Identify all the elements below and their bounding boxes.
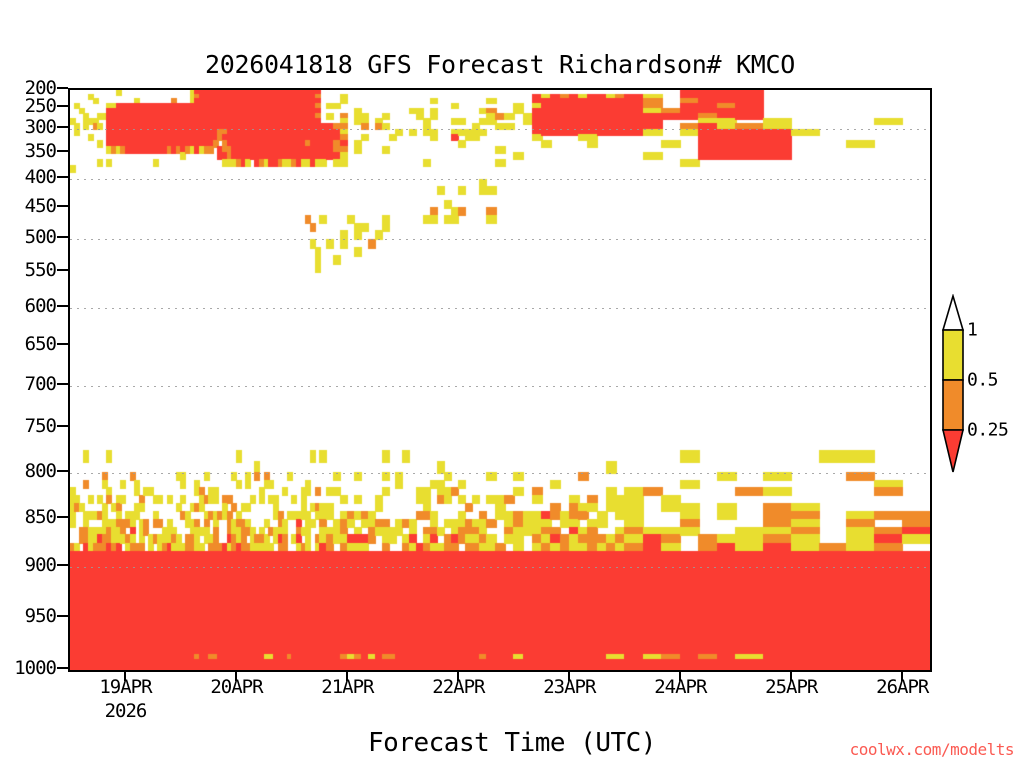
x-tick-mark-20apr bbox=[235, 672, 237, 681]
x-tick-mark-25apr bbox=[790, 672, 792, 681]
colorbar-label-0-25: 0.25 bbox=[967, 420, 1008, 441]
x-tick-mark-19apr bbox=[124, 672, 126, 681]
x-axis-year-label: 2026 bbox=[105, 700, 147, 722]
watermark: coolwx.com/modelts bbox=[850, 740, 1014, 759]
x-tick-mark-22apr bbox=[457, 672, 459, 681]
colorbar-label-0-5: 0.5 bbox=[967, 370, 998, 391]
colorbar-band-yellow bbox=[943, 330, 963, 380]
colorbar-label-1: 1 bbox=[967, 320, 977, 341]
colorbar-band-orange bbox=[943, 380, 963, 430]
colorbar-swatches bbox=[941, 294, 965, 474]
colorbar-legend: 1 0.5 0.25 bbox=[941, 294, 965, 474]
colorbar-extend-above-icon bbox=[943, 296, 963, 330]
x-tick-mark-24apr bbox=[679, 672, 681, 681]
x-axis: 19APR202620APR21APR22APR23APR24APR25APR2… bbox=[0, 0, 1024, 768]
colorbar-extend-below-icon bbox=[943, 430, 963, 472]
x-tick-mark-21apr bbox=[346, 672, 348, 681]
x-tick-mark-26apr bbox=[901, 672, 903, 681]
x-tick-mark-23apr bbox=[568, 672, 570, 681]
